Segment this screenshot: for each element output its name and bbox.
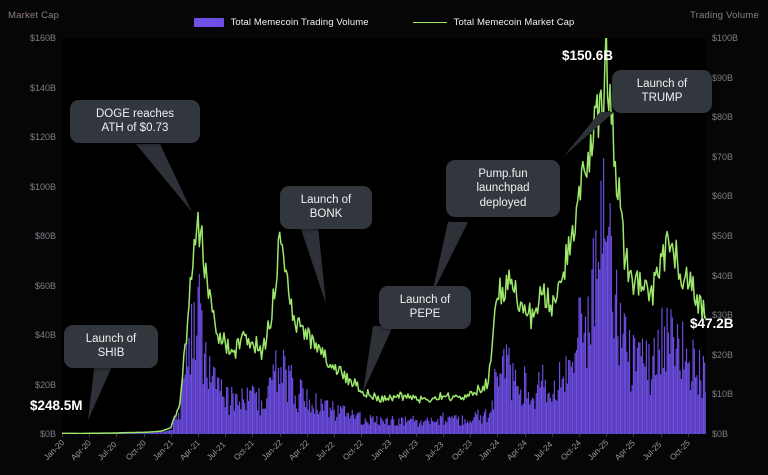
volume-bar <box>581 313 582 434</box>
volume-bar <box>670 309 671 434</box>
volume-bar <box>380 417 381 434</box>
right-axis-tick-label: $60B <box>712 191 733 201</box>
volume-bar <box>266 398 267 434</box>
volume-bar <box>467 421 468 434</box>
volume-bar <box>457 419 458 434</box>
volume-bar <box>691 381 692 434</box>
x-axis-tick-label: Apr-22 <box>287 438 311 462</box>
left-axis-tick-label: $80B <box>35 231 56 241</box>
volume-bar <box>433 422 434 434</box>
volume-bar <box>195 360 196 434</box>
volume-bar <box>604 239 605 434</box>
volume-bar <box>330 408 331 434</box>
volume-bar <box>508 348 509 434</box>
volume-bar <box>358 413 359 434</box>
volume-bar <box>217 377 218 434</box>
volume-bar <box>537 385 538 434</box>
volume-bar <box>317 410 318 434</box>
volume-bar <box>401 417 402 434</box>
volume-bar <box>394 426 395 434</box>
x-axis-tick-mark <box>144 434 145 437</box>
volume-bar <box>312 405 313 434</box>
volume-bar <box>565 356 566 434</box>
volume-bar <box>637 348 638 434</box>
volume-bar <box>451 416 452 434</box>
volume-bar <box>677 324 678 434</box>
volume-bar <box>534 409 535 434</box>
volume-bar <box>254 393 255 434</box>
x-axis-tick-label: Jan-23 <box>369 438 393 462</box>
volume-bar <box>287 402 288 434</box>
x-axis-tick-label: Jul-25 <box>641 440 663 462</box>
x-axis-tick-mark <box>661 434 662 437</box>
volume-bar <box>376 416 377 434</box>
right-axis-tick-label: $70B <box>712 152 733 162</box>
volume-bar <box>406 422 407 434</box>
volume-bar <box>225 407 226 434</box>
volume-bar <box>497 377 498 434</box>
volume-bar <box>210 382 211 434</box>
volume-bar <box>264 408 265 434</box>
volume-bar <box>435 422 436 434</box>
volume-bar <box>302 388 303 434</box>
volume-bar <box>645 367 646 434</box>
left-axis-tick-label: $40B <box>35 330 56 340</box>
left-axis-tick-label: $60B <box>35 281 56 291</box>
volume-bar <box>610 203 611 434</box>
volume-bar <box>446 422 447 434</box>
volume-bar <box>203 384 204 434</box>
volume-bar <box>638 342 639 434</box>
volume-bar <box>201 310 202 434</box>
volume-bar <box>418 427 419 434</box>
right-axis-tick-label: $100B <box>712 33 738 43</box>
volume-bar <box>214 368 215 434</box>
x-axis-tick-label: Oct-22 <box>342 438 366 462</box>
volume-bar <box>563 377 564 434</box>
volume-bar <box>483 416 484 434</box>
volume-bar <box>265 409 266 434</box>
volume-bar <box>431 418 432 434</box>
volume-bar <box>179 419 180 434</box>
volume-bar <box>521 405 522 434</box>
volume-bar <box>546 402 547 434</box>
volume-bar <box>468 423 469 434</box>
x-axis-tick-mark <box>497 434 498 437</box>
volume-bar <box>606 242 607 434</box>
volume-bar <box>529 404 530 434</box>
volume-bar <box>484 412 485 434</box>
volume-bar <box>367 423 368 434</box>
volume-bar <box>212 376 213 434</box>
volume-bar <box>672 317 673 434</box>
volume-bar <box>489 413 490 434</box>
volume-bar <box>657 330 658 434</box>
volume-bar <box>270 377 271 434</box>
volume-bar <box>619 365 620 434</box>
volume-bar <box>553 394 554 434</box>
volume-bar <box>226 387 227 434</box>
volume-bar <box>525 373 526 434</box>
volume-bar <box>473 417 474 434</box>
volume-bar <box>667 308 668 434</box>
volume-bar <box>595 230 596 434</box>
volume-bar <box>391 420 392 434</box>
volume-bar <box>213 367 214 434</box>
volume-bar <box>248 401 249 434</box>
legend-label-market-cap: Total Memecoin Market Cap <box>454 17 575 28</box>
x-axis-tick-mark <box>633 434 634 437</box>
volume-bar <box>530 400 531 434</box>
volume-bar <box>197 287 198 434</box>
volume-bar <box>562 379 563 434</box>
volume-bar <box>573 373 574 434</box>
volume-bar <box>207 378 208 434</box>
volume-bar <box>668 333 669 434</box>
volume-bar <box>541 381 542 434</box>
volume-bar <box>234 411 235 434</box>
volume-bar <box>685 361 686 434</box>
volume-bar <box>448 417 449 434</box>
volume-bar <box>315 393 316 434</box>
x-axis-tick-label: Jan-22 <box>260 438 284 462</box>
volume-bar <box>470 421 471 434</box>
volume-bar <box>655 375 656 434</box>
volume-bar <box>256 392 257 434</box>
volume-bar <box>420 420 421 434</box>
left-axis-tick-label: $120B <box>30 132 56 142</box>
volume-bar <box>501 374 502 434</box>
volume-bar <box>282 383 283 434</box>
volume-bar <box>300 379 301 434</box>
volume-bar <box>427 418 428 434</box>
volume-bar <box>231 387 232 434</box>
volume-bar <box>571 367 572 434</box>
volume-bar <box>485 409 486 434</box>
volume-bar <box>498 386 499 434</box>
x-axis-tick-label: Apr-23 <box>396 438 420 462</box>
volume-bar <box>639 342 640 434</box>
x-axis-tick-label: Jul-21 <box>205 440 227 462</box>
volume-bar <box>314 414 315 434</box>
annotation-label-pumpfun: Pump.fun launchpad deployed <box>446 160 560 217</box>
volume-bar <box>682 322 683 434</box>
volume-bar <box>625 317 626 434</box>
volume-bar <box>429 424 430 434</box>
volume-bar <box>279 384 280 434</box>
chart-canvas <box>62 38 706 434</box>
volume-bar <box>389 425 390 434</box>
volume-bar <box>247 388 248 434</box>
x-axis-tick-mark <box>443 434 444 437</box>
volume-bar <box>304 401 305 434</box>
volume-bar <box>702 398 703 434</box>
volume-bar <box>494 369 495 434</box>
x-axis-tick-label: Jan-24 <box>478 438 502 462</box>
volume-bar <box>191 304 192 434</box>
start-value-label: $248.5M <box>30 398 83 413</box>
volume-bar <box>453 418 454 434</box>
right-axis-tick-label: $10B <box>712 389 733 399</box>
annotation-pumpfun: Pump.fun launchpad deployed <box>446 160 560 217</box>
volume-bar <box>650 395 651 434</box>
volume-bar <box>332 401 333 434</box>
x-axis-tick-mark <box>552 434 553 437</box>
volume-bar <box>462 415 463 434</box>
annotation-doge: DOGE reaches ATH of $0.73 <box>70 100 200 143</box>
volume-bar <box>506 344 507 434</box>
volume-bar <box>520 390 521 434</box>
volume-bar <box>297 412 298 434</box>
volume-bar <box>492 400 493 434</box>
volume-bar <box>419 423 420 434</box>
volume-bar <box>423 422 424 434</box>
volume-bar <box>196 335 197 434</box>
volume-bar <box>646 340 647 434</box>
right-axis-tick-label: $50B <box>712 231 733 241</box>
volume-bar <box>186 343 187 434</box>
volume-bar <box>445 421 446 434</box>
volume-bar <box>608 227 609 434</box>
volume-bar <box>267 386 268 434</box>
volume-bar <box>383 421 384 434</box>
x-axis-tick-mark <box>361 434 362 437</box>
x-axis-tick-mark <box>606 434 607 437</box>
volume-bar <box>260 416 261 434</box>
chart-legend: Total Memecoin Trading Volume Total Meme… <box>0 17 768 28</box>
volume-bar <box>524 366 525 434</box>
right-axis-tick-label: $0B <box>712 429 728 439</box>
volume-bar <box>455 415 456 434</box>
left-axis-tick-label: $0B <box>40 429 56 439</box>
volume-bar <box>340 406 341 434</box>
left-axis-title: Market Cap <box>8 10 59 21</box>
volume-bar <box>681 379 682 434</box>
volume-bar <box>393 419 394 434</box>
volume-bar <box>502 356 503 434</box>
x-axis-tick-label: Jan-25 <box>586 438 610 462</box>
volume-bar <box>336 417 337 434</box>
volume-bar <box>499 373 500 434</box>
peak-value-label: $150.6B <box>562 48 613 63</box>
volume-bar <box>411 419 412 434</box>
volume-bar <box>240 409 241 434</box>
annotation-label-trump: Launch of TRUMP <box>612 70 712 113</box>
volume-bar <box>258 388 259 434</box>
volume-bar <box>352 410 353 434</box>
volume-bar <box>299 394 300 434</box>
left-axis-tick-label: $100B <box>30 182 56 192</box>
legend-swatch-line <box>413 22 447 23</box>
volume-bar <box>559 362 560 434</box>
volume-bar <box>178 413 179 434</box>
volume-bar <box>370 415 371 434</box>
volume-bar <box>551 402 552 434</box>
x-axis-tick-mark <box>688 434 689 437</box>
volume-bar <box>582 343 583 434</box>
volume-bar <box>510 365 511 434</box>
volume-bar <box>586 368 587 434</box>
volume-bar <box>229 415 230 434</box>
volume-bar <box>346 413 347 434</box>
volume-bar <box>690 390 691 434</box>
volume-bar <box>597 279 598 434</box>
volume-bar <box>611 236 612 434</box>
volume-bar <box>543 387 544 434</box>
volume-bar <box>190 374 191 434</box>
volume-bar <box>654 338 655 434</box>
volume-bar <box>335 421 336 434</box>
volume-bar <box>505 378 506 434</box>
volume-bar <box>585 317 586 434</box>
x-axis-tick-label: Apr-25 <box>614 438 638 462</box>
volume-bar <box>518 386 519 434</box>
volume-bar <box>698 395 699 434</box>
volume-bar <box>560 387 561 434</box>
volume-bar <box>218 378 219 434</box>
volume-bar <box>568 360 569 434</box>
volume-bar <box>641 356 642 434</box>
market-cap-line-series <box>62 38 706 433</box>
volume-bar <box>372 416 373 434</box>
volume-bar <box>648 344 649 434</box>
volume-bar <box>289 371 290 434</box>
volume-bar <box>356 415 357 434</box>
volume-bar <box>584 333 585 434</box>
volume-bar <box>204 353 205 434</box>
volume-bar <box>464 419 465 434</box>
volume-bar <box>580 297 581 434</box>
volume-bar <box>238 405 239 434</box>
volume-bar <box>598 262 599 434</box>
volume-bar <box>449 416 450 434</box>
volume-bar <box>261 401 262 434</box>
volume-bar <box>251 391 252 434</box>
volume-bar <box>472 420 473 434</box>
volume-bar <box>422 425 423 434</box>
volume-bar <box>642 338 643 434</box>
volume-bar <box>503 349 504 434</box>
volume-bar <box>550 398 551 434</box>
volume-bar <box>410 419 411 434</box>
left-axis-tick-label: $140B <box>30 83 56 93</box>
x-axis-tick-label: Jul-23 <box>423 440 445 462</box>
volume-bar <box>269 378 270 434</box>
volume-bar <box>616 270 617 434</box>
volume-bar <box>414 421 415 434</box>
volume-bar <box>208 389 209 434</box>
volume-bar <box>322 404 323 434</box>
volume-bar <box>284 356 285 434</box>
volume-bar <box>402 418 403 434</box>
volume-bar <box>209 356 210 434</box>
volume-bar <box>359 412 360 434</box>
volume-bar <box>652 356 653 434</box>
volume-bar <box>235 394 236 434</box>
x-axis-tick-mark <box>579 434 580 437</box>
legend-item-market-cap: Total Memecoin Market Cap <box>413 17 575 28</box>
volume-bar <box>569 360 570 434</box>
volume-bar <box>432 421 433 434</box>
annotation-label-bonk: Launch of BONK <box>280 186 372 229</box>
volume-bar <box>232 393 233 434</box>
volume-bar <box>345 416 346 434</box>
volume-bar <box>244 403 245 434</box>
volume-bar <box>398 418 399 434</box>
volume-bar <box>319 411 320 434</box>
volume-bar <box>621 348 622 434</box>
volume-bar <box>292 378 293 434</box>
volume-bar <box>183 378 184 434</box>
volume-bar <box>647 380 648 434</box>
volume-bar <box>308 410 309 434</box>
volume-bar <box>216 389 217 434</box>
volume-bar <box>286 370 287 434</box>
volume-bar <box>296 409 297 434</box>
volume-bar <box>600 181 601 434</box>
volume-bar <box>558 390 559 434</box>
volume-bar <box>205 342 206 434</box>
volume-bar <box>567 384 568 434</box>
volume-bar <box>343 405 344 434</box>
volume-bar <box>617 336 618 434</box>
volume-bar <box>700 380 701 434</box>
volume-bar <box>328 417 329 434</box>
volume-bar <box>536 393 537 434</box>
legend-label-trading-volume: Total Memecoin Trading Volume <box>231 17 369 28</box>
right-axis-tick-label: $80B <box>712 112 733 122</box>
volume-bar <box>428 421 429 434</box>
volume-bar <box>274 371 275 434</box>
volume-bar <box>173 422 174 434</box>
volume-bar <box>327 400 328 434</box>
volume-bar <box>374 422 375 434</box>
volume-bar <box>365 418 366 434</box>
x-axis-tick-label: Jan-21 <box>151 438 175 462</box>
volume-bar <box>635 371 636 434</box>
volume-bar <box>651 379 652 434</box>
volume-bar <box>661 308 662 434</box>
x-axis-tick-label: Jan-20 <box>42 438 66 462</box>
volume-bar <box>385 419 386 434</box>
volume-bar <box>479 420 480 434</box>
volume-bar <box>220 391 221 434</box>
volume-bar <box>588 296 589 434</box>
volume-bar <box>275 350 276 434</box>
x-axis-tick-mark <box>334 434 335 437</box>
volume-bar <box>480 415 481 434</box>
volume-bar <box>704 363 705 434</box>
volume-bar <box>392 416 393 434</box>
volume-bar <box>694 349 695 434</box>
volume-bar <box>379 425 380 434</box>
volume-bar <box>243 399 244 434</box>
volume-bar <box>523 404 524 434</box>
volume-bar <box>293 404 294 434</box>
volume-bar <box>221 379 222 434</box>
volume-bar <box>424 421 425 434</box>
x-axis-tick-label: Jul-22 <box>314 440 336 462</box>
volume-bar <box>416 420 417 434</box>
volume-bar <box>357 413 358 434</box>
x-axis-tick-mark <box>470 434 471 437</box>
volume-bar <box>471 422 472 434</box>
volume-bar <box>442 413 443 434</box>
volume-bar <box>528 392 529 434</box>
right-axis-tick-label: $90B <box>712 73 733 83</box>
volume-bar <box>362 425 363 434</box>
volume-bar <box>572 362 573 434</box>
